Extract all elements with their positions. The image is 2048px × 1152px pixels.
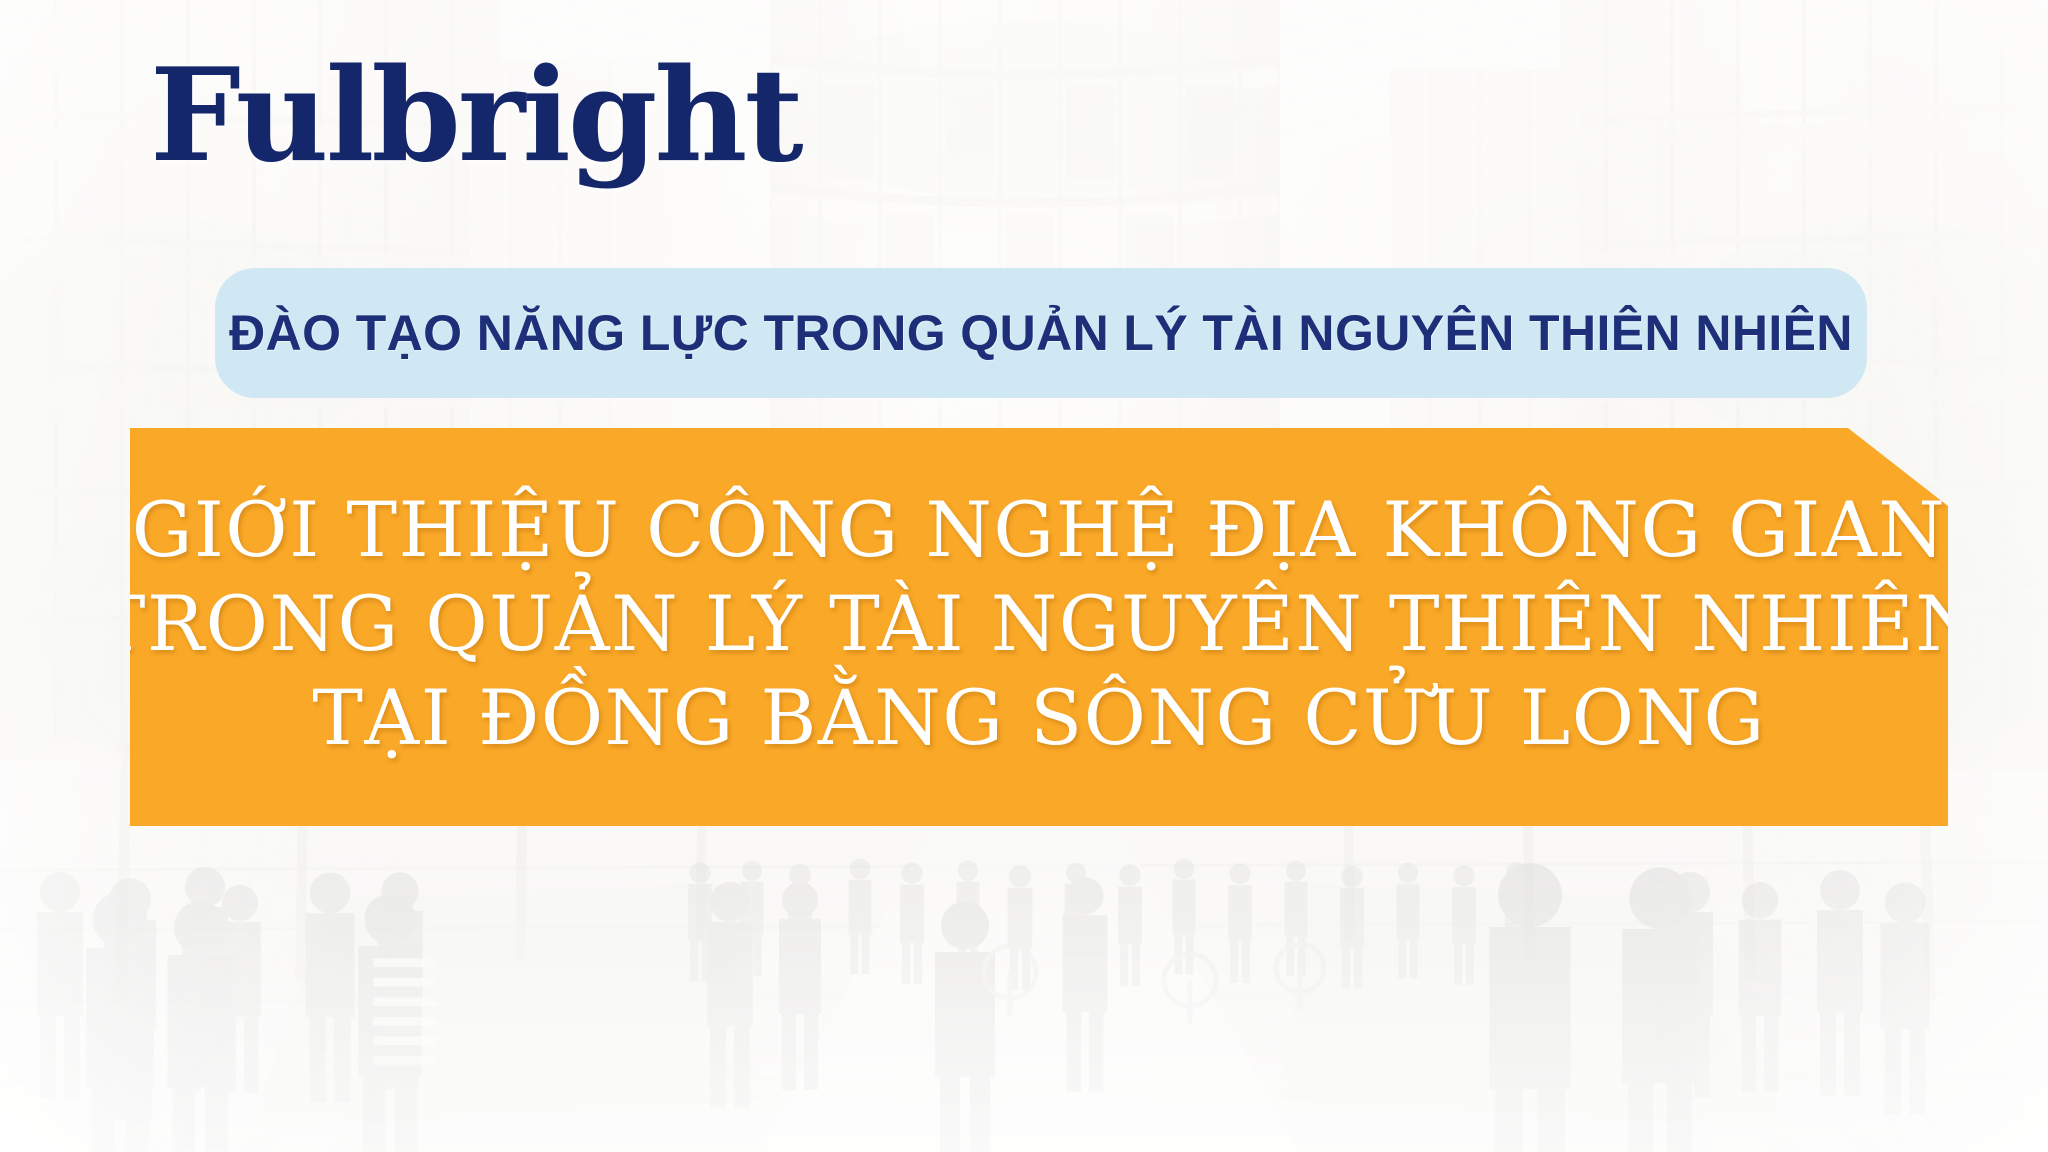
title-block: GIỚI THIỆU CÔNG NGHỆ ĐỊA KHÔNG GIAN TRON…	[130, 428, 1948, 826]
title-line-3: TẠI ĐỒNG BẰNG SÔNG CỬU LONG	[312, 671, 1766, 765]
program-banner-text: ĐÀO TẠO NĂNG LỰC TRONG QUẢN LÝ TÀI NGUYÊ…	[229, 304, 1853, 362]
program-banner: ĐÀO TẠO NĂNG LỰC TRONG QUẢN LÝ TÀI NGUYÊ…	[215, 268, 1867, 398]
title-line-2: TRONG QUẢN LÝ TÀI NGUYÊN THIÊN NHIÊN	[95, 577, 1984, 671]
title-line-1: GIỚI THIỆU CÔNG NGHỆ ĐỊA KHÔNG GIAN	[132, 483, 1947, 577]
fulbright-logo: Fulbright	[150, 52, 801, 180]
title-slide: Fulbright ĐÀO TẠO NĂNG LỰC TRONG QUẢN LÝ…	[0, 0, 2048, 1152]
